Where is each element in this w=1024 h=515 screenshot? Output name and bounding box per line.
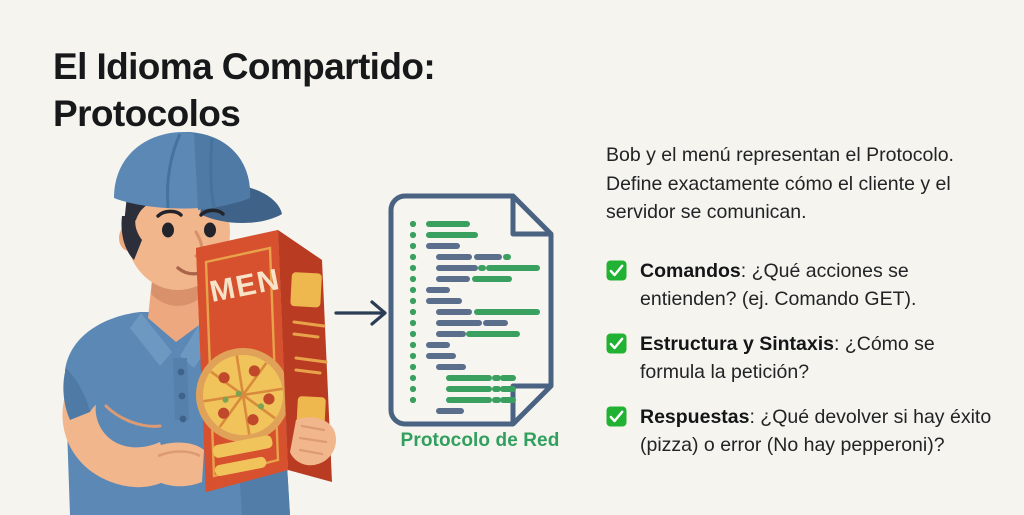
list-item-label: Respuestas (640, 406, 749, 428)
protocol-aspects-list: Comandos: ¿Qué acciones se entienden? (e… (606, 257, 1006, 459)
list-item-text: Respuestas: ¿Qué devolver si hay éxito (… (640, 403, 992, 459)
list-item: Estructura y Sintaxis: ¿Cómo se formula … (606, 330, 1006, 386)
list-item: Comandos: ¿Qué acciones se entienden? (e… (606, 257, 1006, 313)
list-item: Respuestas: ¿Qué devolver si hay éxito (… (606, 403, 1006, 459)
check-mark-button-icon (606, 333, 627, 354)
list-item-text: Estructura y Sintaxis: ¿Cómo se formula … (640, 330, 992, 386)
delivery-person-illustration: MENU (10, 120, 350, 515)
intro-paragraph: Bob y el menú representan el Protocolo. … (606, 141, 988, 227)
check-mark-button-icon (606, 406, 627, 427)
document-caption: Protocolo de Red (330, 430, 630, 452)
network-protocol-document-icon (385, 190, 570, 430)
list-item-label: Comandos (640, 260, 741, 282)
list-item-text: Comandos: ¿Qué acciones se entienden? (e… (640, 257, 992, 313)
list-item-label: Estructura y Sintaxis (640, 333, 834, 355)
check-mark-button-icon (606, 260, 627, 281)
content-column: Bob y el menú representan el Protocolo. … (606, 141, 1006, 459)
slide-root: El Idioma Compartido: Protocolos (0, 0, 1024, 515)
